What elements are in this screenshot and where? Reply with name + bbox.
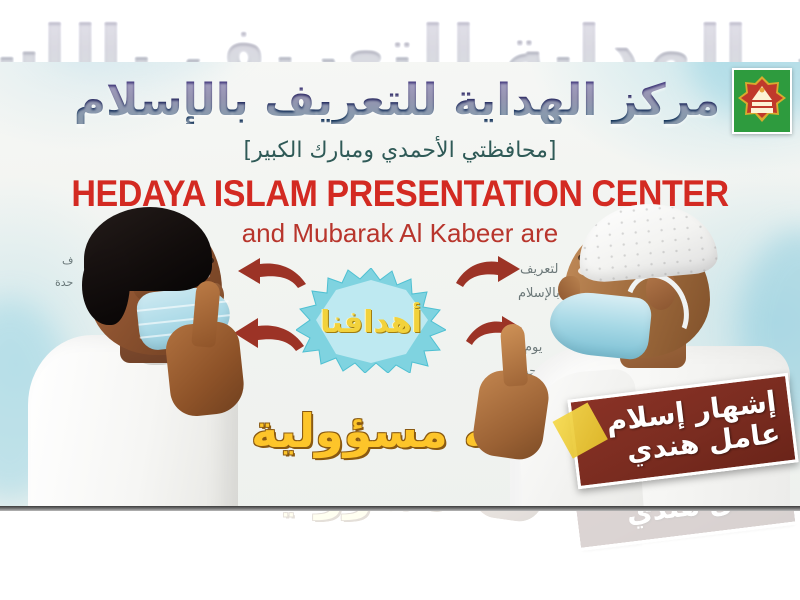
starburst-shape: أهدافنا xyxy=(296,268,446,373)
main-photograph: مركز الهداية للتعريف بالإسلام [محافظتي ا… xyxy=(0,62,800,508)
banner-arabic-subtitle: [محافظتي الأحمدي ومبارك الكبير] xyxy=(0,138,800,163)
left-person-hair-side xyxy=(82,249,130,325)
center-logo-icon xyxy=(732,68,792,134)
banner-arabic-title: مركز الهداية للتعريف بالإسلام xyxy=(0,78,794,124)
header-white-veil xyxy=(0,0,800,62)
photo-scene: مركز الهداية للتعريف بالإسلام [محافظتي ا… xyxy=(0,62,800,508)
photo-canvas: مركز الهداية للتعريف بالإسلام [محافظتي ا… xyxy=(0,0,800,600)
right-person-index-finger xyxy=(500,323,528,387)
bottom-white-veil xyxy=(0,511,800,600)
person-left xyxy=(28,205,288,508)
right-person-taqiyah-cap xyxy=(575,198,719,284)
horizontal-divider xyxy=(0,506,800,511)
bottom-faded-strip: له مسؤولية إشهار إسلام عامل هندي xyxy=(0,511,800,600)
starburst-label: أهدافنا xyxy=(296,270,446,375)
header-blur-strip: مركز الهداية للتعريف بالإسلام [محافظتي ا… xyxy=(0,0,800,62)
